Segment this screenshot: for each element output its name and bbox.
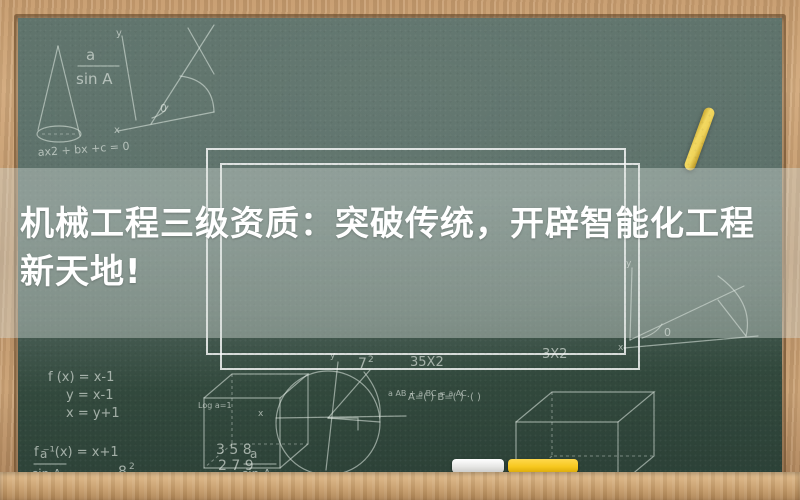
svg-text:a: a — [86, 46, 95, 64]
svg-text:x: x — [114, 125, 120, 136]
svg-text:0: 0 — [160, 102, 167, 115]
sine-rule-formula-topleft: a sin A — [76, 46, 119, 88]
log-expression: Log a=1 — [198, 401, 232, 410]
svg-text:A=( ) B=( ) ·( ): A=( ) B=( ) ·( ) — [408, 392, 481, 403]
sine-rule-formula-bottomcenter: a sin A — [242, 447, 276, 475]
white-chalk-on-ledge — [452, 459, 504, 473]
vector-sum-expression: a AB + a BC = a AC — [388, 389, 467, 398]
svg-text:x = y+1: x = y+1 — [66, 406, 120, 421]
svg-text:y = x-1: y = x-1 — [66, 388, 114, 403]
sine-rule-formula-bottomleft: a sin A — [32, 447, 66, 475]
cube-drawing-center — [204, 374, 308, 468]
svg-text:x: x — [258, 409, 264, 419]
svg-text:f (x) = x-1: f (x) = x-1 — [48, 370, 114, 385]
page-title: 机械工程三级资质：突破传统，开辟智能化工程新天地! — [20, 200, 760, 296]
svg-text:0: 0 — [664, 326, 671, 339]
quadratic-equation-topleft: ax2 + bx +c = 0 — [37, 140, 130, 159]
yellow-chalk-on-ledge — [508, 459, 578, 473]
svg-text:a: a — [250, 447, 257, 461]
yellow-chalk-on-board — [683, 106, 716, 172]
svg-text:ax2 + bx +c = 0: ax2 + bx +c = 0 — [37, 140, 130, 159]
angle-diagram-topleft: y x 0 — [114, 25, 214, 136]
svg-text:sin A: sin A — [76, 70, 113, 88]
wooden-ledge-shelf — [0, 472, 800, 500]
function-equations: f (x) = x-1 y = x-1 x = y+1 — [48, 370, 120, 421]
poster-canvas: a sin A ax2 + bx +c = 0 y x 0 — [0, 0, 800, 500]
inverse-function-expression: f ⁻¹(x) = x+1 — [34, 445, 119, 460]
cone-drawing — [37, 46, 81, 142]
power-eight-exponent: 2 — [129, 462, 135, 472]
matrix-expressions: A=( ) B=( ) ·( ) — [408, 392, 481, 403]
svg-text:y: y — [116, 28, 122, 39]
svg-text:a: a — [40, 447, 47, 461]
subtraction-problem: 3 5 8 2 7 9 6 3 7 — [210, 442, 262, 475]
svg-text:3 5 8: 3 5 8 — [216, 442, 252, 458]
